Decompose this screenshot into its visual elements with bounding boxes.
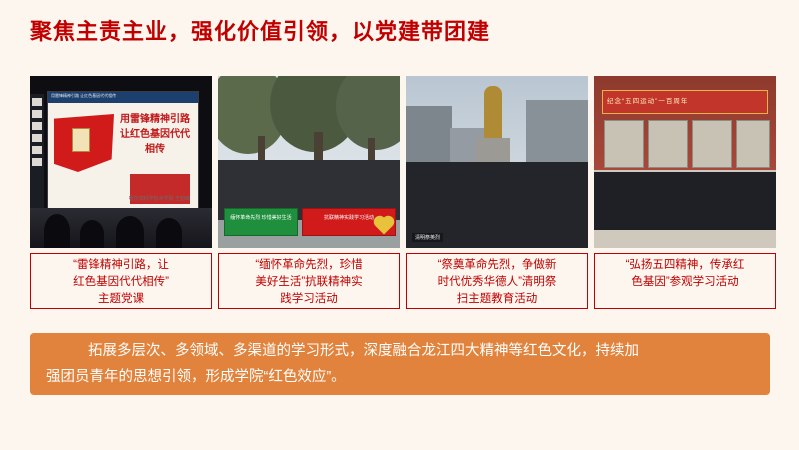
caption-line: 时代优秀华德人”清明祭 bbox=[411, 274, 583, 291]
projection-titlebar-text: 用雷锋精神引路 让红色基因代代相传 bbox=[51, 93, 116, 99]
caption-line: 美好生活”抗联精神实 bbox=[223, 274, 395, 291]
photo-card-1: 用雷锋精神引路 让红色基因代代相传 用雷锋精神引路 让红色基因代代相传 哈尔滨科… bbox=[30, 76, 212, 309]
projection-headline-line2: 让红色基因代代相传 bbox=[116, 127, 194, 157]
banner-line-2: 强团员青年的思想引领，形成学院“红色效应”。 bbox=[46, 369, 346, 385]
caption-line: “雷锋精神引路，让 bbox=[35, 257, 207, 274]
outdoor-group-banner-photo: 缅怀革命先烈 珍惜美好生活 抗联精神实践学习活动 bbox=[218, 76, 400, 248]
audience-silhouette bbox=[44, 214, 70, 248]
audience-silhouette bbox=[80, 220, 104, 248]
caption-line: “弘扬五四精神，传承红 bbox=[599, 257, 771, 274]
projection-screen: 用雷锋精神引路 让红色基因代代相传 用雷锋精神引路 让红色基因代代相传 哈尔滨科… bbox=[47, 91, 199, 211]
photo-caption-2: “缅怀革命先烈，珍惜 美好生活”抗联精神实 践学习活动 bbox=[218, 253, 400, 309]
slide-thumb bbox=[32, 110, 42, 118]
caption-line: 色基因”参观学习活动 bbox=[599, 274, 771, 291]
caption-line: 扫主题教育活动 bbox=[411, 291, 583, 308]
slide-thumb bbox=[32, 122, 42, 130]
slide-root: 聚焦主责主业，强化价值引领，以党建带团建 用雷锋精神引路 让红色基因代代相传 bbox=[0, 0, 799, 450]
exhibition-hall-visit-photo: 纪念“五四运动”一百周年 bbox=[594, 76, 776, 248]
visitor-group-row bbox=[594, 172, 776, 230]
projection-headline: 用雷锋精神引路 让红色基因代代相传 bbox=[116, 112, 194, 157]
caption-line: “祭奠革命先烈，争做新 bbox=[411, 257, 583, 274]
building-block bbox=[406, 106, 452, 168]
slide-thumb bbox=[32, 158, 42, 166]
caption-line: 主题党课 bbox=[35, 291, 207, 308]
photo-card-3: 清明祭英烈 “祭奠革命先烈，争做新 时代优秀华德人”清明祭 扫主题教育活动 bbox=[406, 76, 588, 309]
green-banner-text: 缅怀革命先烈 珍惜美好生活 bbox=[228, 214, 294, 222]
photo-card-row: 用雷锋精神引路 让红色基因代代相传 用雷锋精神引路 让红色基因代代相传 哈尔滨科… bbox=[30, 76, 770, 309]
slide-thumb bbox=[32, 134, 42, 142]
photo-caption-4: “弘扬五四精神，传承红 色基因”参观学习活动 bbox=[594, 253, 776, 309]
summary-banner: 拓展多层次、多领域、多渠道的学习形式，深度融合龙江四大精神等红色文化，持续加 强… bbox=[30, 333, 770, 395]
hall-headline-text: 纪念“五四运动”一百周年 bbox=[607, 95, 688, 105]
photo-caption-3: “祭奠革命先烈，争做新 时代优秀华德人”清明祭 扫主题教育活动 bbox=[406, 253, 588, 309]
audience-silhouette bbox=[156, 218, 182, 248]
flag-emblem-graphic bbox=[72, 128, 90, 152]
building-block bbox=[526, 100, 588, 170]
slide-thumb bbox=[32, 146, 42, 154]
photo-card-4: 纪念“五四运动”一百周年 “弘扬五四精神，传承红 色基因”参观学习活动 bbox=[594, 76, 776, 309]
slide-thumb bbox=[32, 98, 42, 106]
hall-headline-board: 纪念“五四运动”一百周年 bbox=[602, 90, 768, 114]
memorial-statue bbox=[484, 86, 502, 140]
page-title: 聚焦主责主业，强化价值引领，以党建带团建 bbox=[30, 14, 490, 46]
photo-caption-1: “雷锋精神引路，让 红色基因代代相传” 主题党课 bbox=[30, 253, 212, 309]
projection-titlebar: 用雷锋精神引路 让红色基因代代相传 bbox=[48, 92, 198, 103]
classroom-lecture-photo: 用雷锋精神引路 让红色基因代代相传 用雷锋精神引路 让红色基因代代相传 哈尔滨科… bbox=[30, 76, 212, 248]
memorial-statue-crowd-photo: 清明祭英烈 bbox=[406, 76, 588, 248]
caption-line: 践学习活动 bbox=[223, 291, 395, 308]
photo-card-2: 缅怀革命先烈 珍惜美好生活 抗联精神实践学习活动 “缅怀革命先烈，珍惜 美好生活… bbox=[218, 76, 400, 309]
exhibit-panel bbox=[604, 120, 644, 168]
banner-line-1: 拓展多层次、多领域、多渠道的学习形式，深度融合龙江四大精神等红色文化，持续加 bbox=[88, 343, 639, 359]
photo-watermark: 清明祭英烈 bbox=[412, 233, 443, 242]
projection-presenter: 哈尔滨科学技术学院 王旭峰 bbox=[129, 195, 190, 202]
exhibit-panel bbox=[692, 120, 732, 168]
exhibit-panel bbox=[736, 120, 770, 168]
statue-pedestal bbox=[476, 138, 510, 164]
audience-silhouette bbox=[116, 216, 144, 248]
green-banner: 缅怀革命先烈 珍惜美好生活 bbox=[224, 208, 298, 236]
caption-line: “缅怀革命先烈，珍惜 bbox=[223, 257, 395, 274]
caption-line: 红色基因代代相传” bbox=[35, 274, 207, 291]
projection-headline-line1: 用雷锋精神引路 bbox=[116, 112, 194, 127]
exhibit-panel bbox=[648, 120, 688, 168]
